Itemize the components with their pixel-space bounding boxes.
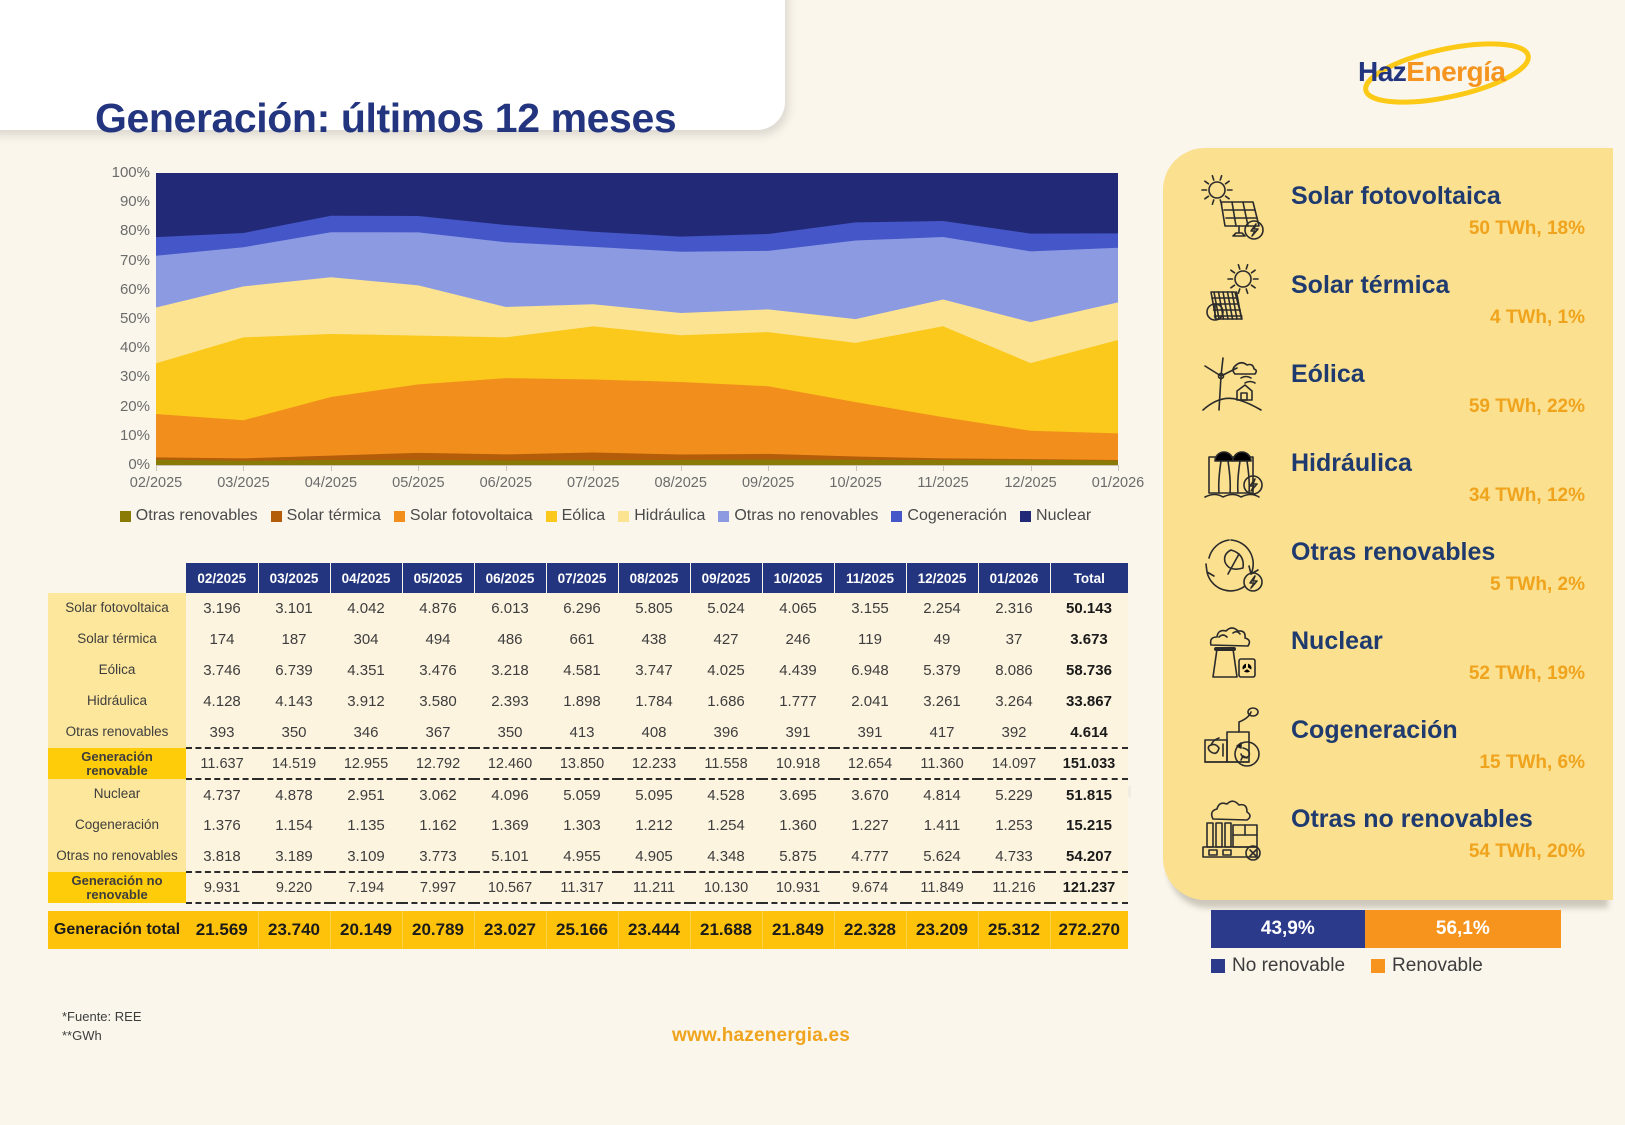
table-cell: 392	[978, 717, 1050, 748]
table-row-label: Generación no renovable	[48, 872, 186, 903]
table-row: Eólica3.7466.7394.3513.4763.2184.5813.74…	[48, 655, 1128, 686]
table-column-header: 05/2025	[402, 563, 474, 593]
legend-label: Cogeneración	[907, 507, 1007, 525]
sidebar-source-value: 52 TWh, 19%	[1469, 663, 1585, 685]
split-legend-non-renewable: No renovable	[1211, 955, 1345, 977]
table-cell: 408	[618, 717, 690, 748]
legend-label: Otras no renovables	[734, 507, 878, 525]
footer-source-line: *Fuente: REE	[62, 1008, 142, 1027]
sidebar-source-value: 5 TWh, 2%	[1490, 574, 1585, 596]
x-axis-tick	[681, 465, 682, 471]
chart-y-axis: 0%10%20%30%40%50%60%70%80%90%100%	[88, 165, 150, 465]
table-row-label: Otras no renovables	[48, 841, 186, 872]
table-cell: 4.777	[834, 841, 906, 872]
y-axis-tick-label: 30%	[88, 368, 150, 385]
table-column-header: Total	[1050, 563, 1128, 593]
table-cell: 1.253	[978, 810, 1050, 841]
table-cell: 1.162	[402, 810, 474, 841]
legend-swatch-icon	[718, 511, 729, 522]
generation-table-wrap: 02/202503/202504/202505/202506/202507/20…	[48, 563, 1128, 949]
table-cell: 6.948	[834, 655, 906, 686]
table-column-header: 12/2025	[906, 563, 978, 593]
y-axis-tick-label: 50%	[88, 310, 150, 327]
split-legend-renewable: Renovable	[1371, 955, 1483, 977]
legend-swatch-icon	[1020, 511, 1031, 522]
table-row-total: 15.215	[1050, 810, 1128, 841]
table-cell: 11.849	[906, 872, 978, 903]
x-axis-tick	[943, 465, 944, 471]
table-cell: 11.317	[546, 872, 618, 903]
logo-haz-text: Haz	[1358, 56, 1406, 87]
footer-units-line: **GWh	[62, 1027, 142, 1046]
x-axis-tick	[768, 465, 769, 471]
table-cell: 1.777	[762, 686, 834, 717]
legend-item[interactable]: Eólica	[546, 507, 606, 525]
table-spacer-cell	[834, 903, 906, 911]
table-cell: 12.955	[330, 748, 402, 779]
table-column-header: 06/2025	[474, 563, 546, 593]
sidebar-source-name: Otras renovables	[1291, 538, 1495, 567]
table-cell: 427	[690, 624, 762, 655]
table-cell: 3.261	[906, 686, 978, 717]
sidebar-source-value: 15 TWh, 6%	[1479, 752, 1585, 774]
table-spacer-cell	[186, 903, 258, 911]
table-spacer-row	[48, 903, 1128, 911]
legend-swatch-icon	[120, 511, 131, 522]
sidebar-source-name: Cogeneración	[1291, 716, 1458, 745]
table-cell: 246	[762, 624, 834, 655]
table-cell: 3.196	[186, 593, 258, 624]
y-axis-tick-label: 70%	[88, 252, 150, 269]
nuclear-plant-icon	[1195, 615, 1270, 690]
table-spacer-cell	[330, 903, 402, 911]
x-axis-tick	[1031, 465, 1032, 471]
x-axis-tick-label: 05/2025	[373, 475, 463, 491]
y-axis-tick-label: 0%	[88, 456, 150, 473]
table-cell: 350	[474, 717, 546, 748]
x-axis-tick	[243, 465, 244, 471]
table-column-header: 07/2025	[546, 563, 618, 593]
table-cell: 14.097	[978, 748, 1050, 779]
table-row-total: 58.736	[1050, 655, 1128, 686]
sidebar-source-value: 34 TWh, 12%	[1469, 485, 1585, 507]
grand-total-cell: 22.328	[834, 911, 906, 949]
table-cell: 304	[330, 624, 402, 655]
x-axis-tick-label: 02/2025	[111, 475, 201, 491]
table-body: Solar fotovoltaica3.1963.1014.0424.8766.…	[48, 593, 1128, 949]
solar-thermal-icon	[1195, 259, 1270, 334]
energy-sources-sidebar: Solar fotovoltaica50 TWh, 18%Solar térmi…	[1163, 148, 1613, 900]
table-cell: 5.024	[690, 593, 762, 624]
table-header-row: 02/202503/202504/202505/202506/202507/20…	[48, 563, 1128, 593]
table-cell: 1.154	[258, 810, 330, 841]
x-axis-tick	[156, 465, 157, 471]
x-axis-tick	[593, 465, 594, 471]
table-row-label: Nuclear	[48, 779, 186, 810]
table-cell: 2.316	[978, 593, 1050, 624]
table-cell: 438	[618, 624, 690, 655]
table-cell: 4.581	[546, 655, 618, 686]
table-cell: 4.905	[618, 841, 690, 872]
table-row-total: 4.614	[1050, 717, 1128, 748]
table-row-label: Generación renovable	[48, 748, 186, 779]
table-cell: 12.654	[834, 748, 906, 779]
grand-total-cell: 23.740	[258, 911, 330, 949]
table-cell: 1.227	[834, 810, 906, 841]
table-cell: 396	[690, 717, 762, 748]
wind-turbine-icon	[1195, 348, 1270, 423]
table-cell: 1.411	[906, 810, 978, 841]
x-axis-tick	[331, 465, 332, 471]
table-cell: 1.303	[546, 810, 618, 841]
table-row-total: 121.237	[1050, 872, 1128, 903]
table-cell: 3.101	[258, 593, 330, 624]
x-axis-tick-label: 03/2025	[198, 475, 288, 491]
table-cell: 10.931	[762, 872, 834, 903]
table-cell: 1.376	[186, 810, 258, 841]
table-row-label: Eólica	[48, 655, 186, 686]
table-spacer-cell	[762, 903, 834, 911]
sidebar-source-value: 59 TWh, 22%	[1469, 396, 1585, 418]
table-cell: 3.264	[978, 686, 1050, 717]
table-cell: 10.918	[762, 748, 834, 779]
table-cell: 4.096	[474, 779, 546, 810]
table-cell: 486	[474, 624, 546, 655]
y-axis-tick-label: 90%	[88, 193, 150, 210]
table-column-header: 10/2025	[762, 563, 834, 593]
table-row: Solar térmica174187304494486661438427246…	[48, 624, 1128, 655]
table-cell: 9.220	[258, 872, 330, 903]
table-row-total: 50.143	[1050, 593, 1128, 624]
grand-total-cell: 23.209	[906, 911, 978, 949]
chart-x-ticks	[156, 465, 1118, 471]
table-cell: 2.393	[474, 686, 546, 717]
table-row-total: 51.815	[1050, 779, 1128, 810]
renewable-label: Renovable	[1392, 955, 1483, 977]
table-cell: 4.143	[258, 686, 330, 717]
table-cell: 4.876	[402, 593, 474, 624]
y-axis-tick-label: 80%	[88, 222, 150, 239]
table-cell: 2.951	[330, 779, 402, 810]
table-cell: 4.528	[690, 779, 762, 810]
table-cell: 350	[258, 717, 330, 748]
table-cell: 4.814	[906, 779, 978, 810]
y-axis-tick-label: 60%	[88, 281, 150, 298]
y-axis-tick-label: 20%	[88, 398, 150, 415]
hazenergia-logo: HazEnergía	[1352, 40, 1542, 106]
x-axis-tick	[418, 465, 419, 471]
table-cell: 417	[906, 717, 978, 748]
table-cell: 1.898	[546, 686, 618, 717]
y-axis-tick-label: 10%	[88, 427, 150, 444]
table-cell: 3.062	[402, 779, 474, 810]
table-cell: 3.109	[330, 841, 402, 872]
table-cell: 7.194	[330, 872, 402, 903]
sidebar-source-value: 54 TWh, 20%	[1469, 841, 1585, 863]
table-row-total: 33.867	[1050, 686, 1128, 717]
table-row-label: Cogeneración	[48, 810, 186, 841]
grand-total-cell: 20.149	[330, 911, 402, 949]
table-cell: 5.229	[978, 779, 1050, 810]
grand-total-cell: 23.027	[474, 911, 546, 949]
table-cell: 393	[186, 717, 258, 748]
legend-label: Solar térmica	[287, 507, 381, 525]
table-spacer-cell	[690, 903, 762, 911]
table-cell: 10.130	[690, 872, 762, 903]
table-corner-cell	[48, 563, 186, 593]
legend-label: Nuclear	[1036, 507, 1091, 525]
table-row-total: 3.673	[1050, 624, 1128, 655]
hydro-dam-icon	[1195, 437, 1270, 512]
table-cell: 4.439	[762, 655, 834, 686]
table-cell: 3.695	[762, 779, 834, 810]
grand-total-cell: 21.688	[690, 911, 762, 949]
table-cell: 3.670	[834, 779, 906, 810]
generation-table: 02/202503/202504/202505/202506/202507/20…	[48, 563, 1128, 949]
table-row-label: Solar fotovoltaica	[48, 593, 186, 624]
table-cell: 119	[834, 624, 906, 655]
table-cell: 5.624	[906, 841, 978, 872]
table-row-label: Solar térmica	[48, 624, 186, 655]
x-axis-tick-label: 04/2025	[286, 475, 376, 491]
table-cell: 6.296	[546, 593, 618, 624]
table-cell: 13.850	[546, 748, 618, 779]
table-spacer-cell	[618, 903, 690, 911]
x-axis-tick-label: 10/2025	[811, 475, 901, 491]
table-cell: 3.476	[402, 655, 474, 686]
legend-swatch-icon	[394, 511, 405, 522]
x-axis-tick-label: 12/2025	[986, 475, 1076, 491]
table-cell: 3.580	[402, 686, 474, 717]
table-cell: 3.746	[186, 655, 258, 686]
generation-area-chart: 0%10%20%30%40%50%60%70%80%90%100% 02/202…	[88, 165, 1128, 535]
table-cell: 413	[546, 717, 618, 748]
non-renewable-share: 43,9%	[1211, 910, 1365, 948]
table-cell: 187	[258, 624, 330, 655]
table-cell: 3.912	[330, 686, 402, 717]
table-cell: 3.747	[618, 655, 690, 686]
table-cell: 1.686	[690, 686, 762, 717]
table-row: Generación no renovable9.9319.2207.1947.…	[48, 872, 1128, 903]
table-cell: 391	[762, 717, 834, 748]
table-cell: 5.805	[618, 593, 690, 624]
x-axis-tick-label: 01/2026	[1073, 475, 1163, 491]
grand-total-cell: 21.849	[762, 911, 834, 949]
sidebar-source-value: 50 TWh, 18%	[1469, 218, 1585, 240]
table-cell: 49	[906, 624, 978, 655]
table-cell: 11.211	[618, 872, 690, 903]
table-cell: 346	[330, 717, 402, 748]
table-cell: 7.997	[402, 872, 474, 903]
table-cell: 2.254	[906, 593, 978, 624]
table-row: Generación renovable11.63714.51912.95512…	[48, 748, 1128, 779]
logo-wordmark: HazEnergía	[1358, 56, 1506, 88]
table-cell: 12.460	[474, 748, 546, 779]
table-cell: 4.351	[330, 655, 402, 686]
table-cell: 4.042	[330, 593, 402, 624]
legend-item[interactable]: Hidráulica	[618, 507, 705, 525]
table-cell: 174	[186, 624, 258, 655]
renewable-swatch-icon	[1371, 959, 1385, 973]
legend-label: Hidráulica	[634, 507, 705, 525]
table-cell: 367	[402, 717, 474, 748]
table-cell: 494	[402, 624, 474, 655]
table-column-header: 09/2025	[690, 563, 762, 593]
table-row: Cogeneración1.3761.1541.1351.1621.3691.3…	[48, 810, 1128, 841]
cogeneration-icon	[1195, 704, 1270, 779]
table-row: Otras no renovables3.8183.1893.1093.7735…	[48, 841, 1128, 872]
table-cell: 11.216	[978, 872, 1050, 903]
table-row: Nuclear4.7374.8782.9513.0624.0965.0595.0…	[48, 779, 1128, 810]
stacked-area-svg	[156, 173, 1118, 465]
table-cell: 1.135	[330, 810, 402, 841]
table-cell: 5.101	[474, 841, 546, 872]
x-axis-tick	[1118, 465, 1119, 471]
table-cell: 9.931	[186, 872, 258, 903]
table-row-total: 54.207	[1050, 841, 1128, 872]
non-renewable-label: No renovable	[1232, 955, 1345, 977]
legend-item[interactable]: Nuclear	[1020, 507, 1091, 525]
logo-energia-text: Energía	[1406, 56, 1505, 87]
non-renewable-swatch-icon	[1211, 959, 1225, 973]
table-cell: 12.792	[402, 748, 474, 779]
table-spacer-cell	[546, 903, 618, 911]
sidebar-source-name: Solar fotovoltaica	[1291, 182, 1501, 211]
legend-item[interactable]: Otras no renovables	[718, 507, 878, 525]
chart-plot-area	[156, 173, 1118, 465]
table-cell: 1.360	[762, 810, 834, 841]
table-cell: 4.737	[186, 779, 258, 810]
table-grand-total-row: Generación total21.56923.74020.14920.789…	[48, 911, 1128, 949]
legend-swatch-icon	[271, 511, 282, 522]
table-cell: 8.086	[978, 655, 1050, 686]
legend-label: Solar fotovoltaica	[410, 507, 533, 525]
table-row: Solar fotovoltaica3.1963.1014.0424.8766.…	[48, 593, 1128, 624]
table-cell: 37	[978, 624, 1050, 655]
table-spacer-cell	[48, 903, 186, 911]
table-row: Hidráulica4.1284.1433.9123.5802.3931.898…	[48, 686, 1128, 717]
sidebar-source-name: Nuclear	[1291, 627, 1383, 656]
table-cell: 1.212	[618, 810, 690, 841]
table-cell: 3.218	[474, 655, 546, 686]
renewable-share: 56,1%	[1365, 910, 1561, 948]
table-cell: 4.878	[258, 779, 330, 810]
x-axis-tick-label: 06/2025	[461, 475, 551, 491]
table-cell: 5.379	[906, 655, 978, 686]
table-header: 02/202503/202504/202505/202506/202507/20…	[48, 563, 1128, 593]
legend-item[interactable]: Cogeneración	[891, 507, 1007, 525]
grand-total-label: Generación total	[48, 911, 186, 949]
grand-total-cell: 23.444	[618, 911, 690, 949]
x-axis-tick	[506, 465, 507, 471]
solar-panel-icon	[1195, 170, 1270, 245]
table-cell: 1.784	[618, 686, 690, 717]
legend-item[interactable]: Solar fotovoltaica	[394, 507, 533, 525]
legend-swatch-icon	[891, 511, 902, 522]
sidebar-source-name: Eólica	[1291, 360, 1365, 389]
table-cell: 4.955	[546, 841, 618, 872]
factory-smoke-icon	[1195, 793, 1270, 868]
table-spacer-cell	[978, 903, 1050, 911]
table-cell: 4.025	[690, 655, 762, 686]
table-cell: 3.189	[258, 841, 330, 872]
table-cell: 11.558	[690, 748, 762, 779]
sidebar-source-name: Solar térmica	[1291, 271, 1449, 300]
table-cell: 4.065	[762, 593, 834, 624]
table-row: Otras renovables393350346367350413408396…	[48, 717, 1128, 748]
table-row-label: Hidráulica	[48, 686, 186, 717]
page-title: Generación: últimos 12 meses	[95, 95, 676, 142]
x-axis-tick-label: 09/2025	[723, 475, 813, 491]
table-column-header: 03/2025	[258, 563, 330, 593]
table-cell: 3.773	[402, 841, 474, 872]
table-cell: 1.254	[690, 810, 762, 841]
x-axis-tick-label: 07/2025	[548, 475, 638, 491]
grand-total-sum: 272.270	[1050, 911, 1128, 949]
table-cell: 4.128	[186, 686, 258, 717]
table-cell: 12.233	[618, 748, 690, 779]
table-cell: 11.637	[186, 748, 258, 779]
table-cell: 6.013	[474, 593, 546, 624]
renewable-split-bar: 43,9% 56,1%	[1211, 910, 1561, 948]
table-cell: 5.095	[618, 779, 690, 810]
table-row-label: Otras renovables	[48, 717, 186, 748]
chart-legend: Otras renovablesSolar térmicaSolar fotov…	[96, 507, 1128, 525]
grand-total-cell: 21.569	[186, 911, 258, 949]
sidebar-source-value: 4 TWh, 1%	[1490, 307, 1585, 329]
table-spacer-cell	[1050, 903, 1128, 911]
grand-total-cell: 25.166	[546, 911, 618, 949]
table-cell: 10.567	[474, 872, 546, 903]
table-cell: 3.155	[834, 593, 906, 624]
recycle-leaf-icon	[1195, 526, 1270, 601]
table-cell: 391	[834, 717, 906, 748]
legend-label: Eólica	[562, 507, 606, 525]
table-spacer-cell	[906, 903, 978, 911]
footer-source: *Fuente: REE **GWh	[62, 1008, 142, 1046]
table-cell: 9.674	[834, 872, 906, 903]
table-cell: 11.360	[906, 748, 978, 779]
footer-website-url: www.hazenergia.es	[672, 1025, 850, 1047]
table-row-total: 151.033	[1050, 748, 1128, 779]
table-spacer-cell	[258, 903, 330, 911]
x-axis-tick-label: 11/2025	[898, 475, 988, 491]
table-cell: 6.739	[258, 655, 330, 686]
sidebar-source-name: Hidráulica	[1291, 449, 1412, 478]
table-cell: 3.818	[186, 841, 258, 872]
split-legend: No renovable Renovable	[1211, 955, 1571, 977]
x-axis-tick-label: 08/2025	[636, 475, 726, 491]
table-cell: 5.059	[546, 779, 618, 810]
table-cell: 14.519	[258, 748, 330, 779]
table-column-header: 02/2025	[186, 563, 258, 593]
table-cell: 4.733	[978, 841, 1050, 872]
x-axis-tick	[856, 465, 857, 471]
table-cell: 2.041	[834, 686, 906, 717]
table-spacer-cell	[474, 903, 546, 911]
table-cell: 5.875	[762, 841, 834, 872]
table-column-header: 01/2026	[978, 563, 1050, 593]
legend-swatch-icon	[618, 511, 629, 522]
table-cell: 4.348	[690, 841, 762, 872]
table-column-header: 11/2025	[834, 563, 906, 593]
legend-item[interactable]: Otras renovables	[120, 507, 258, 525]
sidebar-source-name: Otras no renovables	[1291, 805, 1533, 834]
table-spacer-cell	[402, 903, 474, 911]
grand-total-cell: 25.312	[978, 911, 1050, 949]
table-column-header: 04/2025	[330, 563, 402, 593]
legend-item[interactable]: Solar térmica	[271, 507, 381, 525]
